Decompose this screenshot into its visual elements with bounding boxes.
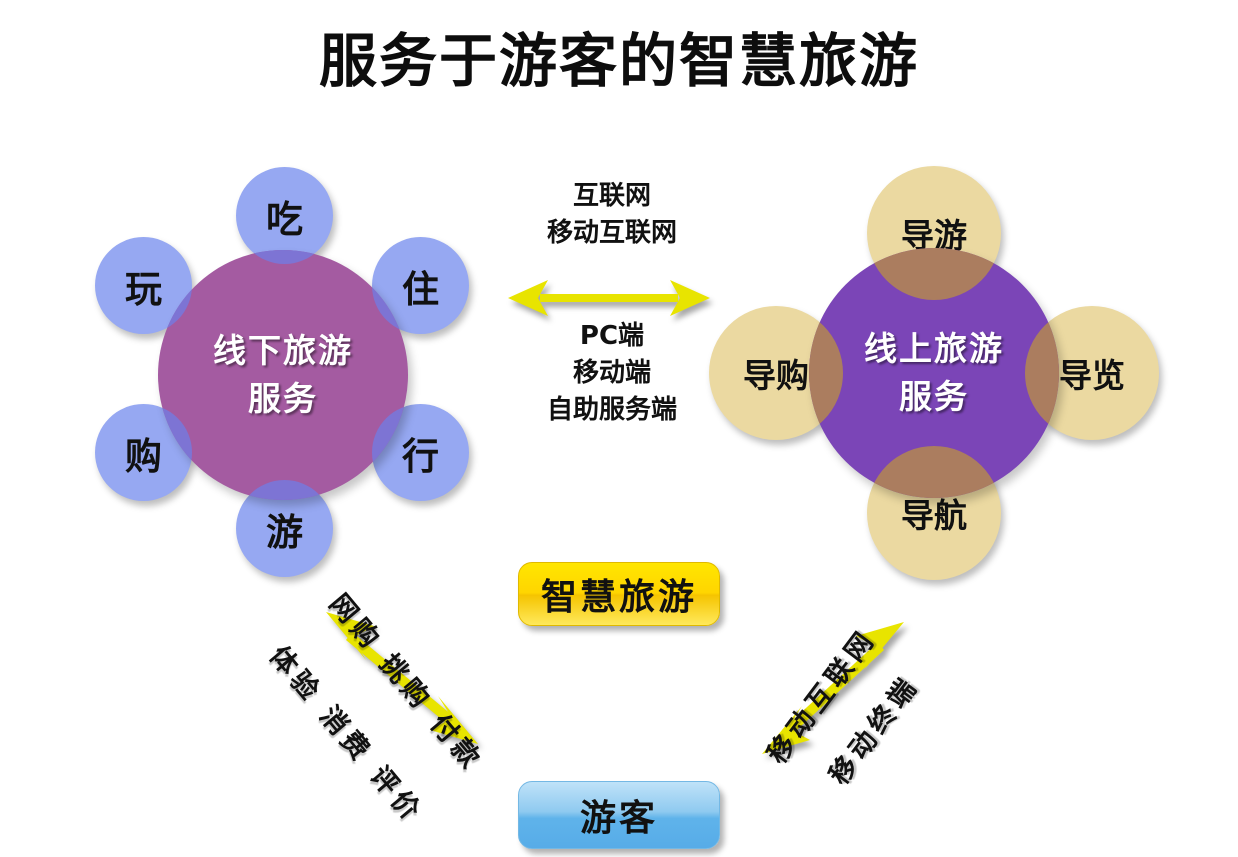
smart-tourism-chip-label: 智慧旅游 bbox=[541, 568, 697, 620]
satellite-sightseeing-label: 导览 bbox=[1059, 349, 1125, 397]
tourist-chip[interactable]: 游客 bbox=[518, 781, 720, 849]
satellite-travel-label: 行 bbox=[402, 426, 439, 480]
satellite-shop-label: 购 bbox=[125, 426, 162, 480]
offline-hub-line-2: 服务 bbox=[248, 375, 318, 423]
satellite-stay-label: 住 bbox=[402, 259, 439, 313]
terminal-label-line-3: 自助服务端 bbox=[484, 392, 740, 429]
satellite-tour-label: 游 bbox=[266, 502, 303, 556]
page-title: 服务于游客的智慧旅游 bbox=[0, 14, 1238, 98]
internet-label: 互联网 移动互联网 bbox=[494, 178, 730, 252]
terminal-label-line-2: 移动端 bbox=[484, 355, 740, 392]
offline-service-hub: 线下旅游 服务 bbox=[158, 250, 408, 500]
terminal-label: PC端 移动端 自助服务端 bbox=[484, 318, 740, 429]
tourist-chip-label: 游客 bbox=[580, 789, 658, 841]
online-hub-line-1: 线上旅游 bbox=[864, 325, 1004, 373]
offline-hub-line-1: 线下旅游 bbox=[213, 327, 353, 375]
internet-label-line-2: 移动互联网 bbox=[494, 215, 730, 252]
online-service-hub: 线上旅游 服务 bbox=[809, 248, 1059, 498]
terminal-label-line-1: PC端 bbox=[484, 318, 740, 355]
satellite-play-label: 玩 bbox=[125, 259, 162, 313]
online-hub-line-2: 服务 bbox=[899, 373, 969, 421]
internet-double-arrow bbox=[508, 278, 710, 318]
internet-label-line-1: 互联网 bbox=[494, 178, 730, 215]
smart-tourism-chip[interactable]: 智慧旅游 bbox=[518, 562, 720, 626]
diagram-canvas: 服务于游客的智慧旅游 吃 住 行 游 购 玩 线下旅游 服务 bbox=[0, 0, 1238, 857]
satellite-eat-label: 吃 bbox=[266, 189, 303, 243]
satellite-shopping-guide-label: 导购 bbox=[743, 349, 809, 397]
